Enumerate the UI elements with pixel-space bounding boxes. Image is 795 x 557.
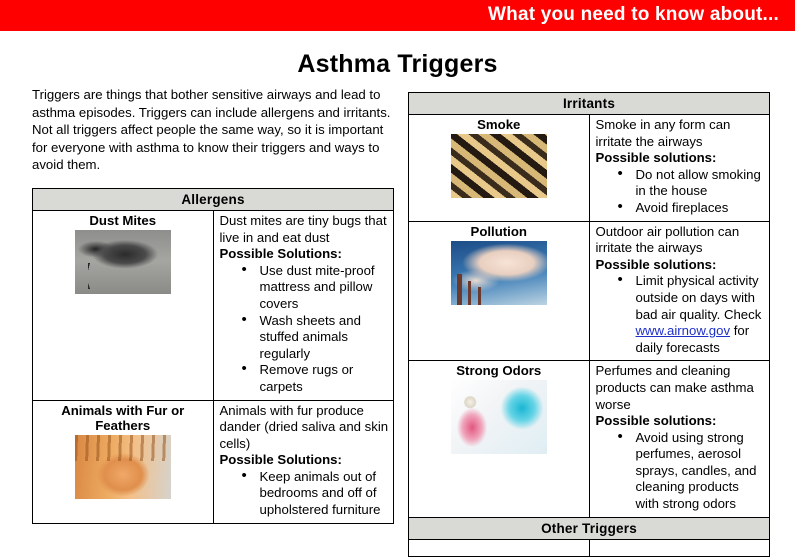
- table-row: Dust Mites Dust mites are tiny bugs that…: [33, 210, 394, 400]
- list-item: Do not allow smoking in the house: [618, 167, 766, 200]
- category-label: Animals with Fur or Feathers: [35, 403, 211, 433]
- page-title: Asthma Triggers: [0, 50, 795, 79]
- table-row: Smoke Smoke in any form can irritate the…: [409, 115, 770, 222]
- description-text: Animals with fur produce dander (dried s…: [220, 403, 390, 453]
- description-cell-next: [589, 539, 770, 556]
- category-cell-animals: Animals with Fur or Feathers: [33, 400, 214, 523]
- perfume-photo: [451, 380, 547, 454]
- right-column: Irritants Smoke Smoke in any form can ir…: [408, 92, 770, 557]
- allergens-section-title: Allergens: [33, 188, 394, 210]
- description-text: Perfumes and cleaning products can make …: [596, 363, 766, 413]
- category-cell-strong-odors: Strong Odors: [409, 361, 590, 517]
- table-row: Pollution Outdoor air pollution can irri…: [409, 221, 770, 361]
- cigarettes-photo: [451, 134, 547, 198]
- description-cell-smoke: Smoke in any form can irritate the airwa…: [589, 115, 770, 222]
- top-banner: What you need to know about...: [0, 0, 795, 31]
- solution-text-prefix: Limit physical activity outside on days …: [636, 273, 762, 321]
- banner-title: What you need to know about...: [488, 4, 779, 26]
- category-cell-pollution: Pollution: [409, 221, 590, 361]
- category-cell-dust-mites: Dust Mites: [33, 210, 214, 400]
- list-item: Use dust mite-proof mattress and pillow …: [242, 263, 390, 313]
- list-item: Wash sheets and stuffed animals regularl…: [242, 313, 390, 363]
- category-label: Pollution: [411, 224, 587, 239]
- cat-photo: [75, 435, 171, 499]
- category-label: Dust Mites: [35, 213, 211, 228]
- airnow-link[interactable]: www.airnow.gov: [636, 323, 731, 338]
- solutions-list: Do not allow smoking in the house Avoid …: [596, 167, 766, 217]
- description-text: Smoke in any form can irritate the airwa…: [596, 117, 766, 150]
- category-cell-smoke: Smoke: [409, 115, 590, 222]
- description-cell-pollution: Outdoor air pollution can irritate the a…: [589, 221, 770, 361]
- other-triggers-section-title: Other Triggers: [409, 517, 770, 539]
- description-cell-animals: Animals with fur produce dander (dried s…: [213, 400, 394, 523]
- description-text: Dust mites are tiny bugs that live in an…: [220, 213, 390, 246]
- list-item: Remove rugs or carpets: [242, 362, 390, 395]
- category-label: Smoke: [411, 117, 587, 132]
- solutions-list: Keep animals out of bedrooms and off of …: [220, 469, 390, 519]
- category-label: Strong Odors: [411, 363, 587, 378]
- table-row: [409, 539, 770, 556]
- table-row: Animals with Fur or Feathers Animals wit…: [33, 400, 394, 523]
- category-cell-next: [409, 539, 590, 556]
- list-item: Avoid using strong perfumes, aerosol spr…: [618, 430, 766, 513]
- description-text: Outdoor air pollution can irritate the a…: [596, 224, 766, 257]
- allergens-table: Allergens Dust Mites Dust mites are tiny…: [32, 188, 394, 524]
- solutions-list: Use dust mite-proof mattress and pillow …: [220, 263, 390, 396]
- list-item: Limit physical activity outside on days …: [618, 273, 766, 356]
- table-row: Strong Odors Perfumes and cleaning produ…: [409, 361, 770, 517]
- table-section-header-row: Allergens: [33, 188, 394, 210]
- solutions-list: Limit physical activity outside on days …: [596, 273, 766, 356]
- description-cell-dust-mites: Dust mites are tiny bugs that live in an…: [213, 210, 394, 400]
- irritants-section-title: Irritants: [409, 93, 770, 115]
- list-item: Avoid fireplaces: [618, 200, 766, 217]
- list-item: Keep animals out of bedrooms and off of …: [242, 469, 390, 519]
- dust-mite-photo: [75, 230, 171, 294]
- table-section-header-row: Irritants: [409, 93, 770, 115]
- left-column: Triggers are things that bother sensitiv…: [32, 86, 394, 524]
- description-cell-strong-odors: Perfumes and cleaning products can make …: [589, 361, 770, 517]
- smokestacks-photo: [451, 241, 547, 305]
- intro-paragraph: Triggers are things that bother sensitiv…: [32, 86, 394, 174]
- irritants-table: Irritants Smoke Smoke in any form can ir…: [408, 92, 770, 557]
- solutions-list: Avoid using strong perfumes, aerosol spr…: [596, 430, 766, 513]
- table-section-header-row: Other Triggers: [409, 517, 770, 539]
